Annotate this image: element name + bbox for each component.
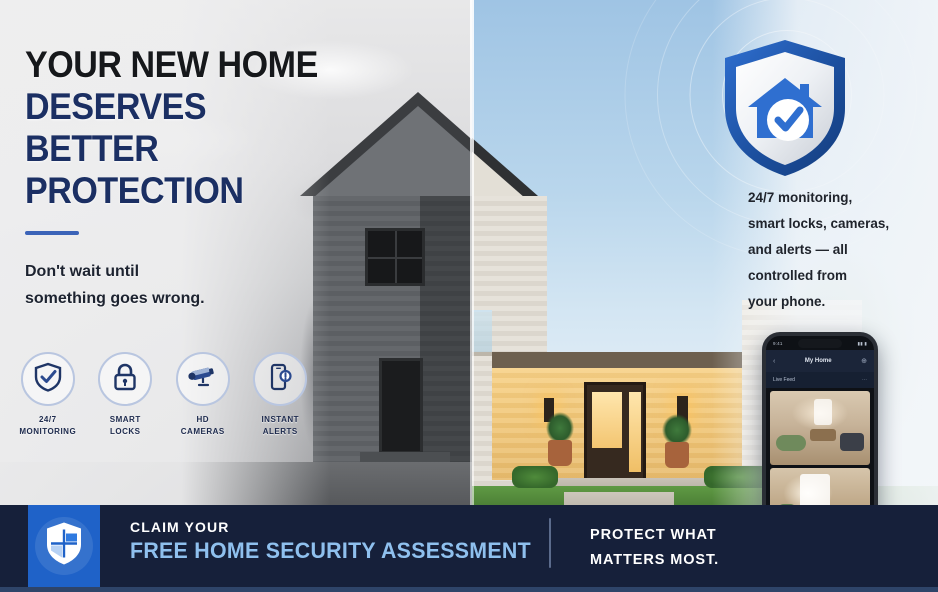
feature-icon-ring — [98, 352, 152, 406]
feed-sofa — [840, 433, 864, 451]
feed-window — [800, 474, 830, 508]
supporting-copy-line: 24/7 monitoring, — [748, 185, 923, 211]
feature-item-alerts: INSTANT ALERTS — [247, 352, 315, 438]
shield-logo-icon — [44, 521, 84, 572]
gray-house-wall-shadow — [420, 196, 472, 496]
live-feed-label: Live Feed — [773, 377, 795, 383]
feature-item-smart-locks: SMART LOCKS — [92, 352, 160, 438]
headline-line-1: YOUR NEW HOME — [25, 44, 329, 86]
gray-house-door — [379, 358, 423, 454]
cta-block[interactable]: CLAIM YOUR FREE HOME SECURITY ASSESSMENT — [130, 518, 543, 565]
door-sidelight — [629, 392, 641, 472]
glass-balcony — [472, 310, 492, 356]
headline-line-3: PROTECTION — [25, 170, 329, 212]
feature-item-cameras: HD CAMERAS — [169, 352, 237, 438]
feature-icon-ring — [253, 352, 307, 406]
walkway — [564, 492, 674, 505]
cta-headline: FREE HOME SECURITY ASSESSMENT — [130, 537, 531, 565]
footer-divider — [549, 518, 551, 568]
feature-label: INSTANT ALERTS — [247, 414, 315, 438]
shield-check-icon — [34, 362, 62, 397]
chevron-left-icon[interactable]: ‹ — [773, 358, 775, 365]
feature-label: HD CAMERAS — [169, 414, 237, 438]
security-camera-icon — [187, 363, 219, 396]
app-header: ‹ My Home ⊕ — [766, 350, 874, 372]
feed-plant — [776, 435, 806, 451]
color-house-gable — [472, 106, 525, 198]
porch-planter-right — [665, 442, 689, 468]
before-after-seam — [470, 0, 474, 505]
porch-planter-left — [548, 440, 572, 466]
supporting-copy-line: and alerts — all — [748, 237, 923, 263]
feature-icon-ring — [21, 352, 75, 406]
subheadline-line-1: Don't wait until — [25, 258, 315, 285]
hedge-left — [512, 466, 558, 488]
supporting-copy-line: smart locks, cameras, — [748, 211, 923, 237]
page-title: YOUR NEW HOME DESERVES BETTER PROTECTION — [25, 44, 355, 212]
cta-eyebrow: CLAIM YOUR — [130, 518, 543, 537]
status-time: 9:41 — [773, 341, 783, 346]
advertisement-banner: YOUR NEW HOME DESERVES BETTER PROTECTION… — [0, 0, 938, 592]
feed-table — [810, 429, 836, 441]
feed-window — [814, 399, 832, 425]
front-door-glass — [592, 392, 622, 448]
feature-list: 24/7 MONITORING SMART LOCKS — [14, 352, 314, 438]
footer-bottom-edge — [0, 587, 938, 592]
supporting-copy: 24/7 monitoring, smart locks, cameras, a… — [748, 185, 923, 315]
accent-rule — [25, 231, 79, 235]
shield-home-check-badge — [712, 32, 858, 184]
app-subheader: Live Feed ⋯ — [766, 372, 874, 388]
gray-house-window — [365, 228, 425, 286]
feature-label: SMART LOCKS — [92, 414, 160, 438]
more-icon[interactable]: ⋯ — [862, 377, 867, 383]
phone-notch — [798, 339, 842, 348]
subheadline: Don't wait until something goes wrong. — [25, 258, 315, 312]
supporting-copy-line: controlled from — [748, 263, 923, 289]
footer-logo-block — [28, 505, 100, 587]
app-title: My Home — [805, 358, 832, 364]
subheadline-line-2: something goes wrong. — [25, 285, 315, 312]
plus-circle-icon[interactable]: ⊕ — [861, 357, 867, 365]
tagline-line-2: MATTERS MOST. — [590, 548, 719, 573]
feature-label: 24/7 MONITORING — [14, 414, 82, 438]
feature-icon-ring — [176, 352, 230, 406]
supporting-copy-line: your phone. — [748, 289, 923, 315]
status-icons: ▮▮ ▮ — [858, 341, 867, 347]
tagline-line-1: PROTECT WHAT — [590, 523, 719, 548]
porch-roof — [492, 352, 742, 368]
padlock-icon — [112, 362, 138, 397]
phone-alert-icon — [267, 362, 293, 397]
footer-tagline: PROTECT WHAT MATTERS MOST. — [590, 523, 719, 573]
camera-feed-living-room[interactable] — [770, 391, 870, 465]
feature-item-monitoring: 24/7 MONITORING — [14, 352, 82, 438]
headline-line-2: DESERVES BETTER — [25, 86, 329, 170]
